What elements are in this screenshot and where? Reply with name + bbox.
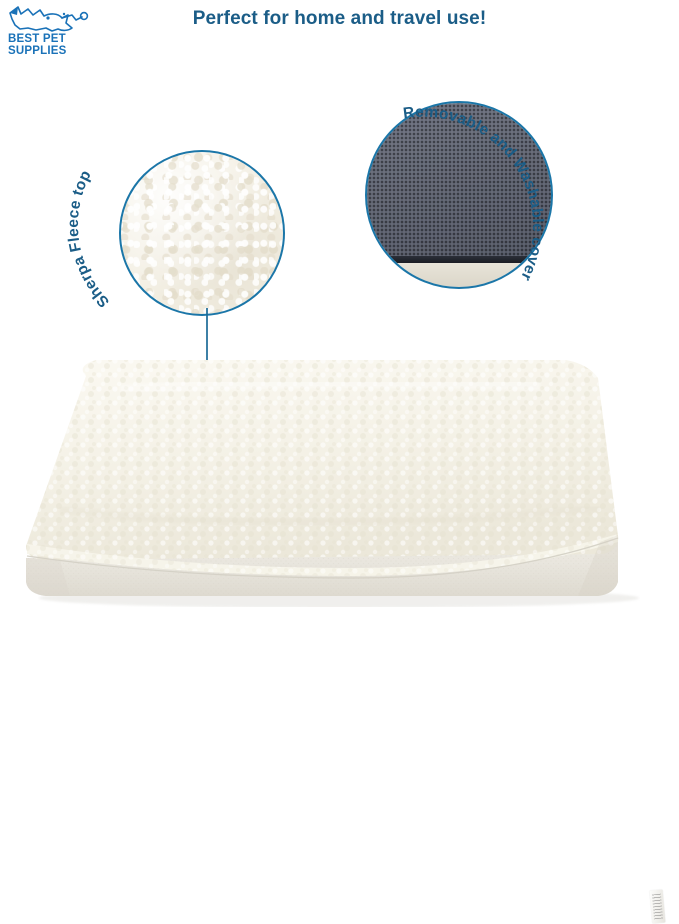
care-tag xyxy=(650,889,666,923)
callout-swatch-cover xyxy=(367,103,551,287)
fleece-texture xyxy=(121,152,283,314)
care-tag-text xyxy=(652,894,663,920)
callout-label-fleece-text: Sherpa Fleece top xyxy=(65,168,113,311)
brand-line-2: SUPPLIES xyxy=(8,46,92,58)
cover-edge-line xyxy=(367,256,551,263)
headline-text: Perfect for home and travel use! xyxy=(0,8,679,30)
pet-bed-product xyxy=(0,330,679,607)
cover-base-layer xyxy=(367,261,551,287)
brand-logo-text: BEST PET SUPPLIES xyxy=(8,34,92,57)
callout-swatch-fleece xyxy=(121,152,283,314)
cover-fabric-texture xyxy=(367,103,551,261)
brand-line-1: BEST PET xyxy=(8,34,92,46)
product-feature-image: BEST PET SUPPLIES Perfect for home and t… xyxy=(0,0,679,607)
